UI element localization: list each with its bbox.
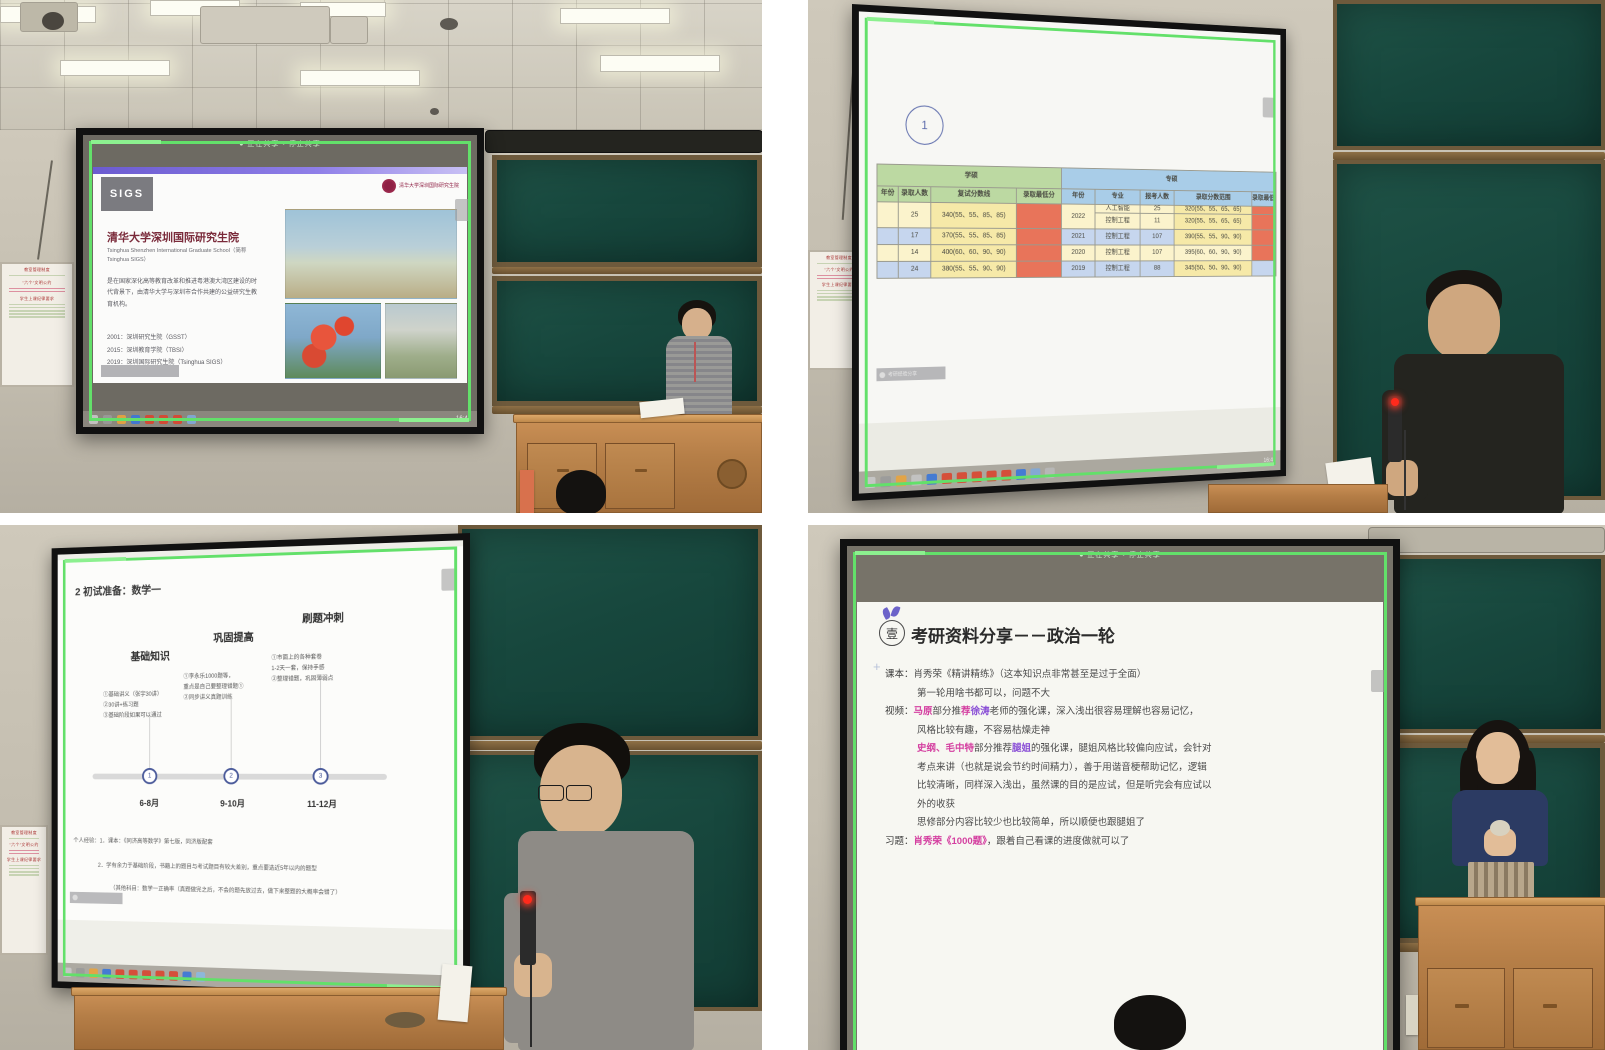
cell-count-left: 17 (898, 228, 931, 245)
projection-screen: 1 学硕 专硕 年份 录取 (852, 4, 1286, 501)
cell-min-score (1252, 261, 1276, 276)
hair (1114, 995, 1186, 1050)
chalkboard-upper (458, 525, 762, 740)
presenter-person (498, 723, 698, 1050)
slide-math-timeline: 2 初试准备：数学一 基础知识 ①基础讲义（张宇30讲） ②30讲+练习题 ③基… (58, 546, 463, 930)
taskbar-explorer-icon[interactable] (89, 968, 98, 978)
table-row: 14 400(60、60、90、90) 2020 控制工程 107 395(60… (877, 245, 1276, 262)
smoke-detector-icon (440, 18, 458, 30)
cell-year-left (877, 228, 898, 245)
cabinet-handle[interactable] (1455, 1004, 1469, 1008)
cabinet-handle[interactable] (1543, 1004, 1557, 1008)
cabinet-handle[interactable] (635, 469, 647, 472)
table-col-header: 录取最低复试 (1252, 192, 1276, 207)
slide4-line: 外的收获 (885, 796, 1369, 815)
cell-score-range: 395(60、60、90、90) (1174, 245, 1252, 261)
cell-major: 控制工程 (1095, 213, 1140, 229)
poster-title-1: "六个"文明公约 (5, 842, 43, 848)
taskbar-start-icon[interactable] (89, 415, 98, 424)
chalkboard-upper (492, 155, 762, 267)
cell-score-left: 400(60、60、90、90) (931, 245, 1017, 262)
desk-object (385, 1012, 425, 1028)
taskbar-search-icon[interactable] (103, 415, 112, 424)
campus-aerial-photo (385, 303, 457, 379)
water-bottle (1406, 995, 1418, 1035)
desk (1208, 484, 1388, 513)
cell-score-left: 370(55、55、85、85) (931, 228, 1017, 245)
slide4-line: 思修部分内容比较少也比较简单，所以顺便也跟腿姐了 (885, 814, 1369, 833)
sprinkler-icon (430, 108, 439, 115)
timeline-node: 2 (223, 768, 239, 784)
timeline-node: 3 (313, 768, 329, 785)
presenter-person (1446, 720, 1556, 920)
cell-applicants: 107 (1140, 229, 1174, 245)
poster-title-2: 学生上课纪律要求 (5, 857, 43, 863)
tsinghua-logo: 清华大学深圳国际研究生院 (382, 179, 459, 193)
ceiling-light (300, 70, 420, 86)
cell-count-left: 25 (898, 202, 931, 228)
taskbar-browser-icon[interactable] (927, 473, 937, 484)
presentation-side-tab[interactable] (455, 199, 471, 221)
lanyard (694, 342, 696, 382)
screen-surface: 1 学硕 专硕 年份 录取 (859, 11, 1281, 493)
slide-accent-bar (93, 167, 467, 174)
slide4-line: 习题：肖秀荣《1000题》，跟着自己看课的进度做就可以了 (885, 833, 1369, 852)
taskbar-powerpoint-icon[interactable] (169, 971, 178, 981)
screen-surface: ● 正在共享 • 停止共享 壹 考研资料分享－－政治一轮 + + (847, 546, 1393, 1050)
slide3-footer-badge (70, 892, 123, 904)
cell-min-left (1016, 203, 1061, 228)
slide-admission-table: 1 学硕 专硕 年份 录取 (859, 11, 1281, 423)
slide4-line: 视频：马原部分推荐徐涛老师的强化课，深入浅出很容易理解也容易记忆， (885, 703, 1369, 722)
classroom-scene: ● 正在共享 • 停止共享 壹 考研资料分享－－政治一轮 + + (808, 525, 1605, 1050)
hand (1386, 460, 1418, 496)
ceiling-light (560, 8, 670, 24)
taskbar-search-icon[interactable] (76, 968, 85, 978)
held-notes (1490, 820, 1510, 836)
wall-poster: 教室管理制度 "六个"文明公约 学生上课纪律要求 (0, 825, 48, 955)
timeline-date: 6-8月 (121, 796, 178, 809)
footer-icon (879, 372, 885, 378)
tsinghua-name-cn: 清华大学深圳国际研究生院 (399, 183, 459, 190)
photo-panel-bottom-left: 教室管理制度 "六个"文明公约 学生上课纪律要求 2 初试准备：数学一 基础知识… (0, 525, 762, 1050)
table-col-header: 录取分数范围 (1174, 191, 1252, 207)
cell-score-range: 345(50、50、90、90) (1174, 261, 1252, 277)
cell-major: 控制工程 (1095, 245, 1140, 261)
taskbar-start-icon[interactable] (63, 967, 72, 977)
cell-year-left (877, 245, 898, 262)
photo-panel-bottom-right: ● 正在共享 • 停止共享 壹 考研资料分享－－政治一轮 + + (808, 525, 1605, 1050)
cell-min-left (1016, 228, 1061, 244)
projection-screen: ● 正在共享 • 停止共享 壹 考研资料分享－－政治一轮 + + (840, 539, 1400, 1050)
slide1-timeline-item: 2001：深圳研究生院（GSST） (107, 332, 277, 345)
podium-top (513, 414, 762, 423)
line-text: ，跟着自己看课的进度做就可以了 (987, 836, 1130, 847)
taskbar-powerpoint-icon[interactable] (1001, 469, 1011, 480)
projection-screen: ● 正在共享 • 停止共享 SIGS 清华大学深圳国际研究生院 (76, 128, 484, 434)
cell-min-score (1252, 245, 1276, 260)
table-col-header: 报考人数 (1140, 190, 1174, 205)
table-row: 24 380(55、55、90、90) 2019 控制工程 88 345(50、… (877, 261, 1276, 279)
timeline-axis (93, 774, 387, 780)
slide4-line: 考点来讲（也就是说会节约时间精力），善于用谐音梗帮助记忆，逻辑 (885, 759, 1369, 778)
slide4-line: 课本：肖秀荣《精讲精练》（这本知识点非常甚至是过于全面） (885, 666, 1369, 685)
taskbar-meeting-icon[interactable] (187, 415, 196, 424)
taskbar-meeting-icon[interactable] (1016, 468, 1026, 479)
cell-count-left: 14 (898, 245, 931, 262)
head (1428, 284, 1500, 360)
line-text: 风格比较有趣，不容易枯燥走神 (917, 725, 1050, 736)
cell-score-left: 340(55、55、85、85) (931, 202, 1017, 228)
slide4-line: 风格比较有趣，不容易枯燥走神 (885, 722, 1369, 741)
photo-panel-top-left: 教室管理制度 "六个"文明公约 学生上课纪律要求 ● 正在共享 • 停止共享 (0, 0, 762, 513)
slide4-line: 比较清晰，同样深入浅出，虽然课的目的是应试，但是听完会有应试以 (885, 777, 1369, 796)
line-text: 比较清晰，同样深入浅出，虽然课的目的是应试，但是听完会有应试以 (917, 780, 1212, 791)
slide-sigs-intro: SIGS 清华大学深圳国际研究生院 清华大学深圳国际研究生院 Tsinghua … (93, 167, 467, 383)
presentation-side-tab[interactable] (1263, 97, 1276, 117)
slide1-title: 清华大学深圳国际研究生院 (107, 229, 239, 245)
cell-year: 2022 (1061, 204, 1095, 229)
taskbar-meeting-icon[interactable] (182, 971, 191, 981)
cell-applicants: 11 (1140, 213, 1174, 229)
cell-year: 2021 (1061, 229, 1095, 245)
screen-surface: ● 正在共享 • 停止共享 SIGS 清华大学深圳国际研究生院 (83, 135, 477, 427)
line-label: 课本： (885, 669, 914, 680)
crop-mark-icon: + (873, 660, 881, 673)
table-col-header: 复试分数线 (931, 187, 1017, 204)
head (1476, 732, 1520, 784)
mic-indicator-icon (523, 895, 532, 904)
wall-poster: 教室管理制度 "六个"文明公约 学生上课纪律要求 (0, 262, 74, 387)
projector-lens-icon (42, 12, 64, 30)
slide3-stage-bullets: ①市面上的各种套卷 1-2天一套，保持手感 ②整理错题，巩固薄弱点 (271, 652, 379, 686)
cell-min-score (1252, 206, 1276, 214)
chalk-rail (1333, 152, 1605, 160)
table-col-header: 录取最低分 (1016, 188, 1061, 204)
cell-major: 控制工程 (1095, 261, 1140, 277)
line-text: 老师的强化课，深入浅出很容易理解也容易记忆， (990, 706, 1199, 717)
taskbar-browser-icon[interactable] (131, 415, 140, 424)
ceiling-fixture (1368, 527, 1605, 553)
classroom-scene: 教室管理制度 "六个"文明公约 学生上课纪律要求 2 初试准备：数学一 基础知识… (0, 525, 762, 1050)
ceiling (0, 0, 762, 130)
cell-year-left (877, 261, 898, 278)
poster-header: 教室管理制度 (5, 830, 43, 836)
highlight-text: 徐涛 (971, 706, 990, 717)
highlight-text: 肖秀荣《1000题》 (914, 836, 987, 847)
line-text: 考点来讲（也就是说会节约时间精力），善于用谐音梗帮助记忆，逻辑 (917, 762, 1207, 773)
table-col-header: 专业 (1095, 189, 1140, 205)
table-col-header: 年份 (1061, 189, 1095, 205)
air-duct (200, 6, 330, 44)
taskbar-explorer-icon[interactable] (896, 475, 907, 486)
glasses-icon (538, 785, 564, 801)
podium-cabinet-door[interactable] (1427, 968, 1505, 1048)
admission-score-table: 学硕 专硕 年份 录取人数 复试分数线 录取最低分 年份 专业 报考人数 (876, 164, 1276, 279)
cell-min-score (1252, 230, 1276, 245)
section-number-badge: 壹 (879, 620, 905, 646)
cell-score-range: 390(55、55、90、90) (1174, 229, 1252, 245)
timeline-date: 9-10月 (202, 797, 264, 810)
air-vent (330, 16, 368, 44)
slide3-note: （其他科目：数学一正确率（真题做完之后，不会的题先放过去，做下来整题的大概率会错… (110, 885, 463, 901)
slide3-stage-heading: 基础知识 (112, 648, 189, 665)
cell-min-score (1252, 214, 1276, 230)
taskbar-explorer-icon[interactable] (117, 415, 126, 424)
hair (556, 470, 606, 513)
taskbar-powerpoint-icon[interactable] (987, 470, 997, 481)
taskbar-powerpoint-icon[interactable] (159, 415, 168, 424)
chalkboard-upper (1368, 555, 1605, 733)
cell-major: 控制工程 (1095, 229, 1140, 245)
taskbar-powerpoint-icon[interactable] (115, 969, 124, 979)
share-status-dot: ● (1079, 552, 1084, 559)
screen-surface: 2 初试准备：数学一 基础知识 ①基础讲义（张宇30讲） ②30讲+练习题 ③基… (58, 540, 463, 996)
slide3-stage-heading: 巩固提高 (192, 628, 275, 645)
line-text: 部分推荐 (974, 743, 1012, 754)
timeline-connector (231, 699, 232, 776)
taskbar-app-icon[interactable] (1030, 468, 1040, 479)
slide-politics-materials: 壹 考研资料分享－－政治一轮 + + 课本：肖秀荣《精讲精练》（这本知识点非常甚… (857, 602, 1383, 1050)
table-row: 17 370(55、55、85、85) 2021 控制工程 107 390(55… (877, 228, 1276, 246)
podium (1418, 903, 1605, 1050)
glasses-icon (566, 785, 592, 801)
tsinghua-seal-icon (382, 179, 396, 193)
line-label: 视频： (885, 706, 914, 717)
classroom-scene: 教室管理制度 "六个"文明公约 学生上课纪律要求 ● 正在共享 • 停止共享 (0, 0, 762, 513)
bullet: ②整理错题，巩固薄弱点 (271, 674, 379, 686)
leaf-icon (890, 605, 900, 618)
highlight-text: 荐 (961, 706, 971, 717)
footer-icon (72, 895, 77, 901)
mic-cable (530, 961, 532, 1047)
taskbar-powerpoint-icon[interactable] (142, 970, 151, 980)
share-status-text: 正在共享 • 停止共享 (1087, 552, 1160, 559)
screen-share-status: ● 正在共享 • 停止共享 (83, 139, 477, 149)
table-col-header: 录取人数 (898, 186, 931, 202)
bullet: ③基础阶段如果可以通过 (103, 711, 201, 722)
poster-title-2: 学生上课纪律要求 (5, 296, 69, 302)
cell-year-left (877, 202, 898, 228)
poster-title-1: "六个"文明公约 (5, 280, 69, 286)
taskbar-powerpoint-icon[interactable] (129, 970, 138, 980)
track-light-bar (485, 130, 762, 153)
podium-top (1415, 897, 1605, 906)
taskbar-powerpoint-icon[interactable] (957, 471, 967, 482)
slide4-title: 考研资料分享－－政治一轮 (911, 622, 1115, 647)
taskbar-tray-icon[interactable] (1045, 467, 1055, 478)
line-label: 习题： (885, 836, 914, 847)
slide4-line: 第一轮用啥书都可以，问题不大 (885, 685, 1369, 704)
ceiling-light (60, 60, 170, 76)
taskbar-browser-icon[interactable] (102, 969, 111, 979)
cell-score-left: 380(55、55、90、90) (931, 261, 1017, 278)
taskbar-powerpoint-icon[interactable] (173, 415, 182, 424)
line-text: 部分推 (933, 706, 962, 717)
line-text: 的强化课，腿姐风格比较偏向应试，会针对 (1031, 743, 1212, 754)
slide4-content: 课本：肖秀荣《精讲精练》（这本知识点非常甚至是过于全面） 第一轮用啥书都可以，问… (885, 666, 1369, 851)
ceiling-light (600, 55, 720, 72)
papers (438, 964, 473, 1022)
cell-score-range: 320(55、55、65、65) (1174, 205, 1252, 214)
audience-head (548, 470, 618, 513)
windows-taskbar[interactable]: 16:42 (83, 411, 477, 427)
line-text: 外的收获 (917, 799, 955, 810)
slide3-stage-bullets: ①李永乐1000题等， 重点是自己要整理错题① ②同步讲义真题训练 (183, 671, 284, 704)
campus-gate-photo (285, 209, 457, 299)
sigs-logo: SIGS (101, 177, 153, 211)
cell-score-range: 320(55、55、65、65) (1174, 214, 1252, 230)
share-status-dot: ● (239, 141, 244, 148)
slide2-footer-text: 考研经验分享 (888, 370, 917, 378)
presentation-side-tab[interactable] (1371, 670, 1387, 692)
cell-year: 2020 (1061, 245, 1095, 261)
taskbar-start-icon[interactable] (865, 476, 876, 488)
audience-head (1106, 995, 1196, 1050)
cell-min-left (1016, 245, 1061, 261)
screen-share-status: ● 正在共享 • 停止共享 (847, 550, 1393, 560)
timeline-date: 11-12月 (288, 797, 356, 810)
slide1-body: 是在国家深化高等教育改革和推进粤港澳大湾区建设的时代背景下，由清华大学与深圳市合… (107, 277, 259, 311)
cell-year: 2019 (1061, 261, 1095, 277)
line-text: 第一轮用啥书都可以，问题不大 (917, 688, 1050, 699)
laser-indicator-icon (1391, 398, 1399, 406)
slide3-title: 2 初试准备：数学一 (75, 581, 161, 599)
timeline-connector (149, 717, 150, 776)
slide2-footer-badge: 考研经验分享 (876, 366, 945, 381)
school-emblem-icon (717, 459, 747, 489)
projection-screen: 2 初试准备：数学一 基础知识 ①基础讲义（张宇30讲） ②30讲+练习题 ③基… (52, 533, 470, 1003)
line-text: 肖秀荣《精讲精练》（这本知识点非常甚至是过于全面） (914, 669, 1147, 680)
podium-cabinet-door[interactable] (1513, 968, 1593, 1048)
poster-header: 教室管理制度 (5, 267, 69, 273)
presentation-side-tab[interactable] (441, 568, 457, 590)
slide2-page-marker: 1 (905, 105, 943, 145)
photo-panel-top-right: 教室管理制度 "六个"文明公约 学生上课纪律要求 1 (808, 0, 1605, 513)
lanyard (1404, 430, 1406, 510)
taskbar-powerpoint-icon[interactable] (942, 472, 952, 483)
highlight-text: 腿姐 (1012, 743, 1031, 754)
classroom-scene: 教室管理制度 "六个"文明公约 学生上课纪律要求 1 (808, 0, 1605, 513)
table-group-header: 学硕 (877, 164, 1061, 189)
taskbar-clock: 16:42 (1264, 458, 1276, 464)
taskbar-app-icon[interactable] (911, 474, 922, 485)
slide4-line: 史纲、毛中特部分推荐腿姐的强化课，腿姐风格比较偏向应试，会针对 (885, 740, 1369, 759)
slide1-subtitle: Tsinghua Shenzhen International Graduate… (107, 247, 259, 266)
share-status-text: 正在共享 • 停止共享 (247, 141, 320, 148)
slide1-footer-badge (101, 365, 179, 377)
highlight-text: 马原 (914, 706, 933, 717)
slide1-timeline-item: 2015：深圳教育学院（TBSI） (107, 345, 277, 358)
highlight-text: 史纲、毛中特 (917, 743, 974, 754)
taskbar-powerpoint-icon[interactable] (972, 471, 982, 482)
taskbar-powerpoint-icon[interactable] (155, 971, 164, 981)
taskbar-clock: 16:42 (456, 416, 471, 422)
cell-applicants: 107 (1140, 245, 1174, 261)
cell-count-left: 24 (898, 261, 931, 278)
chalk-rail (492, 267, 762, 274)
taskbar-search-icon[interactable] (880, 475, 891, 486)
bullet: ②同步讲义真题训练 (183, 692, 284, 704)
timeline-node: 1 (142, 768, 157, 784)
kapok-flower-photo (285, 303, 381, 379)
cell-applicants: 88 (1140, 261, 1174, 277)
table-col-header: 年份 (877, 186, 898, 202)
photo-collage: 教室管理制度 "六个"文明公约 学生上课纪律要求 ● 正在共享 • 停止共享 (0, 0, 1605, 1050)
taskbar-powerpoint-icon[interactable] (145, 415, 154, 424)
cell-min-left (1016, 261, 1061, 277)
presenter-person (1364, 270, 1564, 513)
cell-applicants: 25 (1140, 205, 1174, 214)
slide3-note: 个人经验：1．课本：《同济高等数学》第七版，同济版配套 (73, 837, 443, 851)
slide3-note: 2．学有余力于基础阶段，书籍上的题目与考试题目有较大差别，重点要选近5年以内的题… (98, 862, 461, 877)
water-bottle (520, 470, 534, 513)
timeline-connector (320, 680, 321, 776)
line-text: 思修部分内容比较少也比较简单，所以顺便也跟腿姐了 (917, 817, 1145, 828)
taskbar-tray-icon[interactable] (196, 972, 205, 982)
chalkboard-upper (1333, 0, 1605, 150)
slide3-stage-heading: 刷题冲刺 (279, 609, 368, 627)
